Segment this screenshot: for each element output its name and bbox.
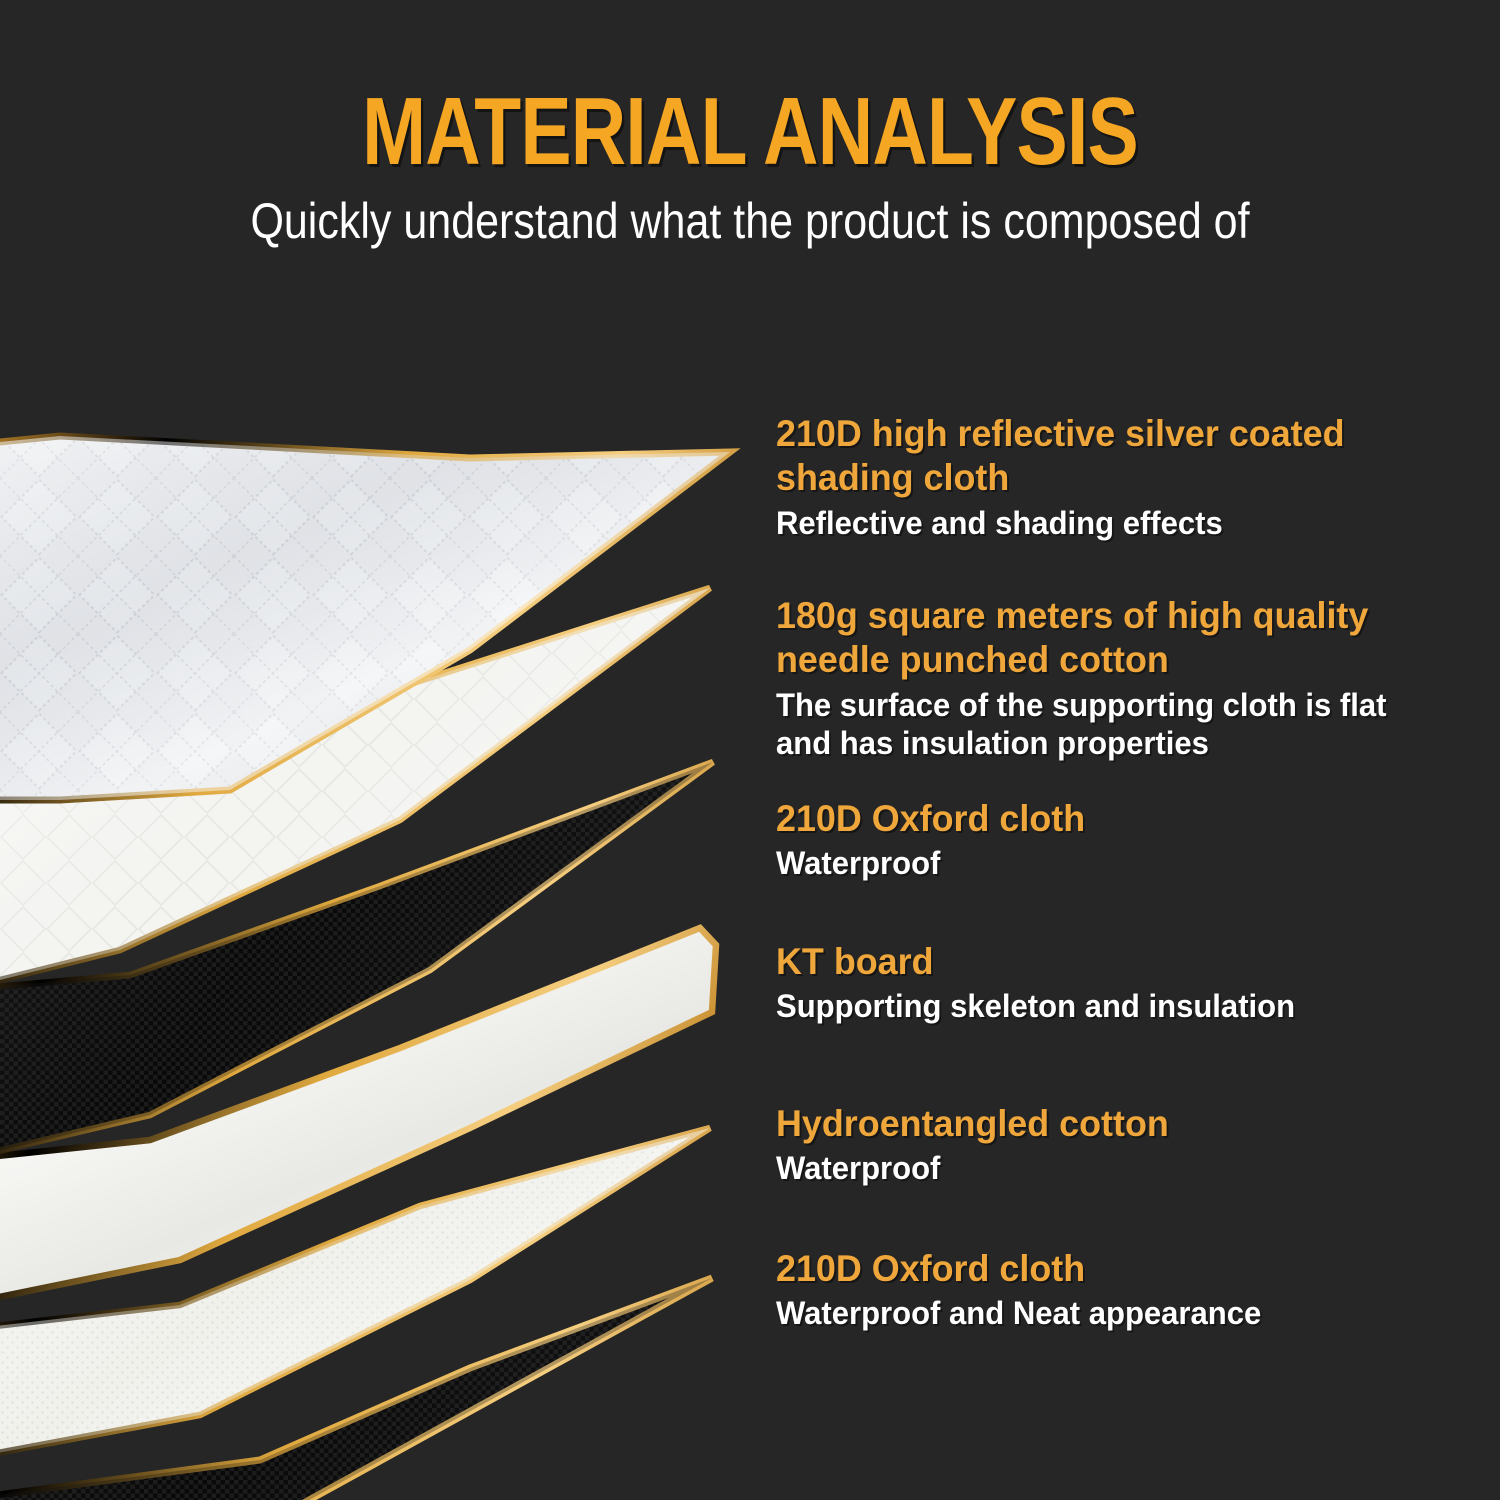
callout-item-3: 210D Oxford cloth Waterproof [776, 797, 1416, 883]
callout-subtitle-3: Waterproof [776, 844, 1397, 882]
header: MATERIAL ANALYSIS Quickly understand wha… [0, 0, 1500, 249]
callout-title-2: 180g square meters of high quality needl… [776, 594, 1416, 683]
callout-item-1: 210D high reflective silver coated shadi… [776, 412, 1416, 542]
callout-subtitle-1: Reflective and shading effects [776, 504, 1397, 542]
material-analysis-infographic: MATERIAL ANALYSIS Quickly understand wha… [0, 0, 1500, 1500]
callout-subtitle-2: The surface of the supporting cloth is f… [776, 686, 1416, 763]
callout-title-3: 210D Oxford cloth [776, 797, 1397, 841]
callout-item-5: Hydroentangled cotton Waterproof [776, 1102, 1416, 1188]
page-subtitle: Quickly understand what the product is c… [105, 194, 1395, 249]
callout-item-6: 210D Oxford cloth Waterproof and Neat ap… [776, 1247, 1416, 1333]
callout-subtitle-6: Waterproof and Neat appearance [776, 1294, 1397, 1332]
material-layers-illustration [0, 400, 770, 1500]
page-title: MATERIAL ANALYSIS [150, 86, 1350, 178]
callout-item-2: 180g square meters of high quality needl… [776, 594, 1436, 763]
callout-title-6: 210D Oxford cloth [776, 1247, 1397, 1291]
callout-subtitle-5: Waterproof [776, 1149, 1397, 1187]
callout-title-4: KT board [776, 940, 1397, 984]
callout-item-4: KT board Supporting skeleton and insulat… [776, 940, 1416, 1026]
callout-subtitle-4: Supporting skeleton and insulation [776, 987, 1397, 1025]
callout-title-5: Hydroentangled cotton [776, 1102, 1397, 1146]
callout-title-1: 210D high reflective silver coated shadi… [776, 412, 1397, 501]
